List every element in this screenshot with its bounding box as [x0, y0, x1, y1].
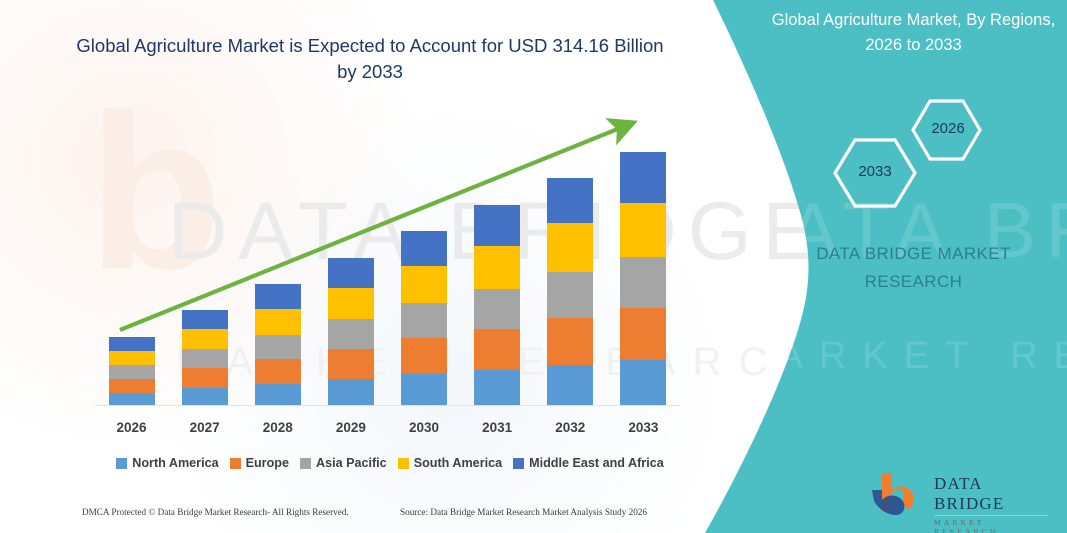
logo-text-block: DATA BRIDGE MARKET RESEARCH — [934, 474, 1048, 533]
bar-segment[interactable] — [328, 379, 374, 406]
bar-segment[interactable] — [620, 360, 666, 406]
bar-segment[interactable] — [109, 351, 155, 365]
data-bridge-logo: DATA BRIDGE MARKET RESEARCH — [868, 470, 1048, 518]
legend-item[interactable]: Asia Pacific — [300, 456, 387, 470]
infographic-canvas: b DATA BRIDGE MARKET RESEARCH Global Agr… — [0, 0, 1067, 533]
hexagon-shapes — [820, 93, 1010, 208]
x-axis-label: 2029 — [311, 420, 391, 435]
legend-label: Asia Pacific — [316, 456, 387, 470]
legend-swatch — [513, 458, 524, 469]
x-axis-labels: 20262027202820292030203120322033 — [95, 420, 680, 444]
x-axis-label: 2031 — [457, 420, 537, 435]
bar-segment[interactable] — [182, 368, 228, 388]
legend-item[interactable]: Europe — [230, 456, 289, 470]
footer: DMCA Protected © Data Bridge Market Rese… — [0, 507, 700, 527]
legend-swatch — [230, 458, 241, 469]
legend-label: Europe — [246, 456, 289, 470]
footer-copyright: DMCA Protected © Data Bridge Market Rese… — [82, 507, 349, 517]
bar-segment[interactable] — [109, 365, 155, 379]
chart-legend: North AmericaEuropeAsia PacificSouth Ame… — [95, 456, 685, 470]
legend-item[interactable]: Middle East and Africa — [513, 456, 664, 470]
footer-source: Source: Data Bridge Market Research Mark… — [400, 507, 647, 517]
legend-label: Middle East and Africa — [529, 456, 664, 470]
bar-segment[interactable] — [328, 349, 374, 379]
hexagon-left-label: 2033 — [855, 163, 895, 180]
legend-swatch — [398, 458, 409, 469]
x-axis-label: 2027 — [165, 420, 245, 435]
bar-segment[interactable] — [182, 349, 228, 368]
bar-segment[interactable] — [474, 370, 520, 406]
chart-title: Global Agriculture Market is Expected to… — [70, 33, 670, 85]
category-axis-line — [95, 405, 680, 406]
legend-item[interactable]: South America — [398, 456, 502, 470]
legend-label: North America — [132, 456, 218, 470]
legend-item[interactable]: North America — [116, 456, 218, 470]
x-axis-label: 2032 — [530, 420, 610, 435]
hexagon-right-label: 2026 — [928, 120, 968, 137]
x-axis-label: 2028 — [238, 420, 318, 435]
teal-panel-content: DATA BRIDGE MARKET RESEARCH Global Agric… — [760, 0, 1067, 533]
bar-segment[interactable] — [182, 388, 228, 406]
hexagon-badges: 2026 2033 — [820, 93, 1010, 208]
growth-arrow-icon — [95, 100, 680, 350]
x-axis-label: 2030 — [384, 420, 464, 435]
bar-segment[interactable] — [255, 359, 301, 384]
logo-name: DATA BRIDGE — [934, 474, 1048, 516]
x-axis-label: 2026 — [92, 420, 172, 435]
bar-segment[interactable] — [547, 365, 593, 406]
bar-segment[interactable] — [401, 374, 447, 406]
panel-watermark-line2: MARKET RESEARCH — [730, 335, 1067, 378]
legend-swatch — [300, 458, 311, 469]
logo-mark-icon — [868, 470, 930, 516]
panel-brand-text: DATA BRIDGE MARKET RESEARCH — [780, 240, 1047, 296]
panel-title: Global Agriculture Market, By Regions, 2… — [770, 8, 1057, 58]
logo-subtitle: MARKET RESEARCH — [934, 518, 1048, 533]
legend-swatch — [116, 458, 127, 469]
x-axis-label: 2033 — [603, 420, 683, 435]
legend-label: South America — [414, 456, 502, 470]
bar-segment[interactable] — [109, 379, 155, 393]
bar-segment[interactable] — [255, 384, 301, 406]
